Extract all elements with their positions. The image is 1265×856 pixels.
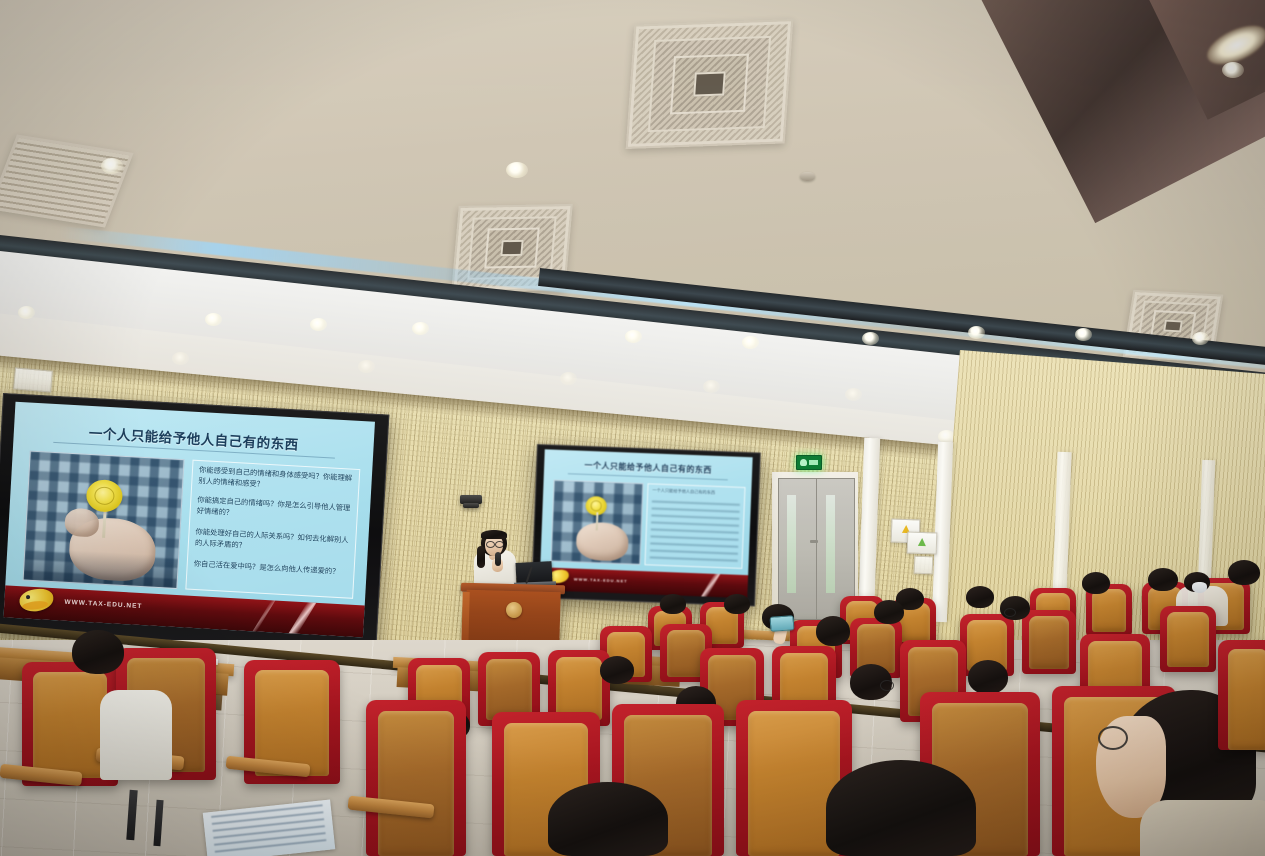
main-projection-screen: 一个人只能给予他人自己有的东西 你能感受到自己的情绪和身体感受吗？你能理解别人的…: [0, 393, 389, 652]
audience-glasses-icon: [1004, 608, 1016, 617]
downlight-icon: [742, 336, 759, 349]
auditorium-seat[interactable]: [1022, 610, 1076, 674]
presenter-hair-front: [481, 530, 507, 539]
smartphone-icon[interactable]: [770, 615, 795, 632]
audience-head: [1082, 572, 1110, 594]
audience-head-foreground: [826, 760, 976, 856]
door-handle-icon[interactable]: [810, 540, 818, 543]
secondary-slide-footer-site: WWW.TAX-EDU.NET: [574, 577, 628, 584]
audience-glasses-icon: [880, 680, 894, 691]
secondary-slide-footer-bar: WWW.TAX-EDU.NET: [539, 567, 748, 598]
downlight-icon: [172, 352, 189, 365]
slide-question-4: 你自己活在爱中吗？是怎么向他人传递爱的？: [193, 559, 349, 578]
secondary-q-line: 一个人只能给予他人自己有的东西: [652, 487, 742, 497]
secondary-slide-photo: [550, 480, 643, 565]
secondary-slide-surface: 一个人只能给予他人自己有的东西 一个人只能给予他人自己有的东西 WWW.TAX-…: [539, 449, 752, 598]
auditorium-seat[interactable]: [366, 700, 466, 856]
downlight-icon: [506, 162, 528, 178]
slide-question-1: 你能感受到自己的情绪和身体感受吗？你能理解别人的情绪和感受？: [198, 465, 355, 495]
exit-sign-icon: [796, 455, 822, 470]
downlight-icon: [1192, 332, 1209, 345]
auditorium-seat[interactable]: [1218, 640, 1265, 750]
face-mask-icon: [1192, 582, 1207, 593]
door-glass-panel: [787, 495, 796, 593]
downlight-icon: [310, 318, 327, 331]
downlight-icon: [625, 330, 642, 343]
presenter-laptop-screen: [515, 561, 552, 584]
wall-notice-sign: [907, 531, 938, 554]
slide-footer-swoosh: [253, 600, 276, 631]
presenter-glasses-icon: [495, 541, 504, 548]
slide-footer-site: WWW.TAX-EDU.NET: [64, 599, 142, 610]
downlight-icon: [1075, 328, 1092, 341]
door-leaf-left[interactable]: [778, 478, 817, 620]
audience-head: [968, 660, 1008, 694]
lecture-hall-photo: 一个人只能给予他人自己有的东西 你能感受到自己的情绪和身体感受吗？你能理解别人的…: [0, 0, 1265, 856]
downlight-icon: [101, 158, 123, 174]
downlight-icon: [862, 332, 879, 345]
audience-head: [1000, 596, 1030, 620]
secondary-slide-question-box: 一个人只能给予他人自己有的东西: [644, 483, 745, 569]
door-glass-panel: [826, 495, 835, 593]
wall-plate: [13, 367, 53, 392]
wall-notice-sign-small: [914, 556, 934, 575]
slide-question-box: 你能感受到自己的情绪和身体感受吗？你能理解别人的情绪和感受？ 你能搞定自己的情绪…: [185, 460, 360, 599]
foreground-person-glasses-icon: [1098, 726, 1128, 750]
audience-head: [1148, 568, 1178, 591]
downlight-icon: [560, 372, 577, 385]
slide-question-2: 你能搞定自己的情绪吗？你是怎么引导他人管理好情绪的？: [196, 495, 353, 525]
audience-head-foreground: [548, 782, 668, 856]
ceiling-air-diffuser-icon: [626, 19, 794, 149]
downlight-icon: [968, 326, 985, 339]
audience-body: [100, 690, 172, 780]
audience-head: [874, 600, 904, 624]
podium-emblem-icon: [506, 602, 522, 618]
secondary-projection-screen: 一个人只能给予他人自己有的东西 一个人只能给予他人自己有的东西 WWW.TAX-…: [531, 444, 761, 606]
downlight-icon: [845, 388, 862, 401]
downlight-icon: [412, 322, 429, 335]
audience-head: [966, 586, 994, 608]
warning-triangle-icon: [918, 538, 926, 546]
audience-head: [724, 594, 750, 614]
presenter-glasses-icon: [486, 541, 495, 548]
downlight-icon: [18, 306, 35, 319]
downlight-icon: [205, 313, 222, 326]
audience-head: [816, 616, 850, 646]
wall-camera-bracket: [463, 503, 479, 508]
audience-head: [660, 594, 686, 614]
downlight-icon: [703, 380, 720, 393]
ceiling-sensor-icon: [800, 172, 815, 181]
slide-photo: [23, 451, 185, 589]
microphone-icon[interactable]: [495, 552, 501, 566]
audience-head: [600, 656, 634, 684]
slide-surface: 一个人只能给予他人自己有的东西 你能感受到自己的情绪和身体感受吗？你能理解别人的…: [3, 402, 374, 638]
audience-head: [72, 630, 124, 674]
presenter-ponytail: [477, 546, 485, 568]
slide-footer-swoosh: [289, 602, 317, 634]
audience-head: [1228, 560, 1260, 585]
slide-question-3: 你能处理好自己的人际关系吗？如何去化解别人的人际矛盾的？: [195, 527, 352, 557]
secondary-q-lines: [650, 500, 740, 563]
downlight-icon: [1222, 62, 1244, 78]
auditorium-seat[interactable]: [1160, 606, 1216, 672]
foreground-person-shirt: [1140, 800, 1265, 856]
downlight-icon: [358, 360, 375, 373]
